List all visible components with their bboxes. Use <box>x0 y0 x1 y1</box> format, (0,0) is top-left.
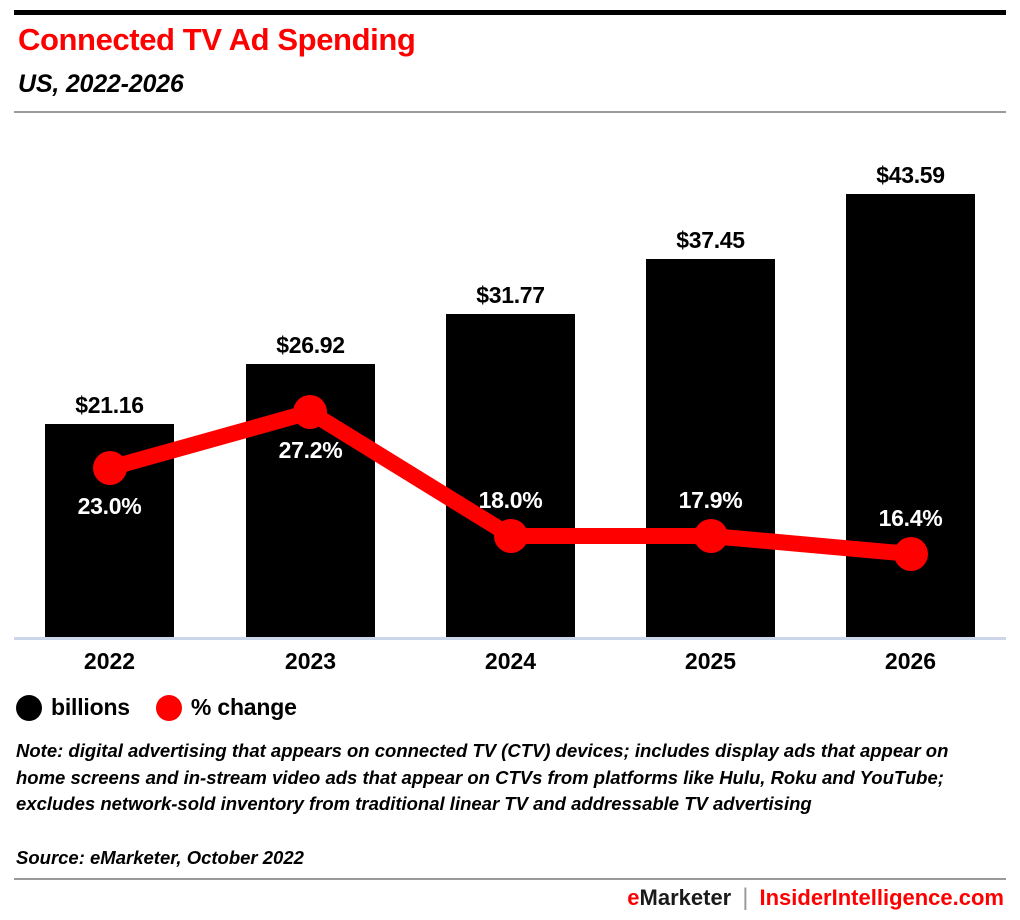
x-axis-label-2023: 2023 <box>246 648 375 675</box>
x-axis-label-2024: 2024 <box>446 648 575 675</box>
bar-2024 <box>446 314 575 637</box>
legend-label-percent-change: % change <box>191 694 297 721</box>
chart-plot-area: $21.16 $26.92 $31.77 $37.45 $43.59 23.0%… <box>0 0 1020 700</box>
footer-branding: eMarketer | InsiderIntelligence.com <box>627 884 1004 912</box>
pct-label-2022: 23.0% <box>45 493 174 520</box>
bar-value-2025: $37.45 <box>646 227 775 254</box>
bar-value-2023: $26.92 <box>246 332 375 359</box>
x-axis-baseline <box>14 637 1006 640</box>
pct-label-2023: 27.2% <box>246 437 375 464</box>
bar-value-2022: $21.16 <box>45 392 174 419</box>
chart-note: Note: digital advertising that appears o… <box>16 738 976 818</box>
chart-legend: billions % change <box>16 694 297 721</box>
bar-value-2024: $31.77 <box>446 282 575 309</box>
bar-2025 <box>646 259 775 637</box>
legend-label-billions: billions <box>51 694 130 721</box>
legend-item-percent-change[interactable]: % change <box>156 694 297 721</box>
bar-2023 <box>246 364 375 637</box>
footer-divider <box>14 878 1006 880</box>
bar-2026 <box>846 194 975 637</box>
circle-icon <box>16 695 42 721</box>
x-axis-label-2022: 2022 <box>45 648 174 675</box>
x-axis-label-2025: 2025 <box>646 648 775 675</box>
pct-label-2025: 17.9% <box>646 487 775 514</box>
legend-item-billions[interactable]: billions <box>16 694 130 721</box>
chart-page: Connected TV Ad Spending US, 2022-2026 $… <box>0 0 1020 920</box>
brand-emarketer[interactable]: eMarketer <box>627 885 731 911</box>
pct-label-2024: 18.0% <box>446 487 575 514</box>
bar-value-2026: $43.59 <box>846 162 975 189</box>
footer-separator: | <box>742 884 748 912</box>
brand-accent-letter: e <box>627 885 639 910</box>
circle-icon <box>156 695 182 721</box>
x-axis-label-2026: 2026 <box>846 648 975 675</box>
bar-2022 <box>45 424 174 637</box>
chart-source: Source: eMarketer, October 2022 <box>16 847 304 869</box>
footer-website-link[interactable]: InsiderIntelligence.com <box>759 885 1004 911</box>
pct-label-2026: 16.4% <box>846 505 975 532</box>
brand-name-rest: Marketer <box>640 885 732 910</box>
